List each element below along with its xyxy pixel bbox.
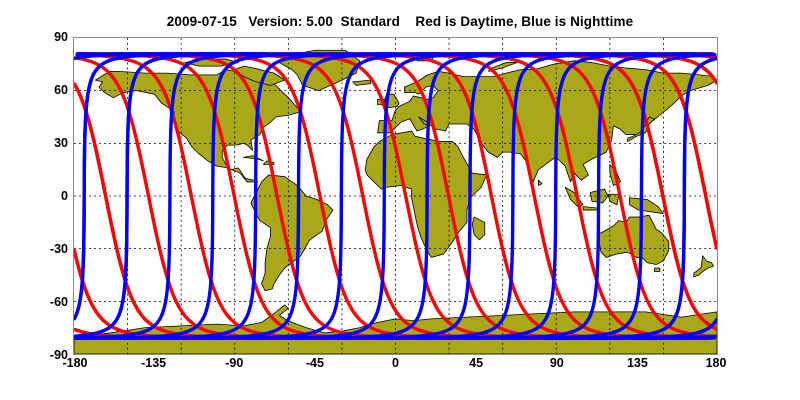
map-plot-area bbox=[73, 37, 718, 355]
x-tick-label: 180 bbox=[686, 357, 746, 370]
x-tick-label: -90 bbox=[204, 357, 264, 370]
plot-title: 2009-07-15 Version: 5.00 Standard Red is… bbox=[0, 14, 800, 29]
x-tick-label: 45 bbox=[446, 357, 506, 370]
landmass bbox=[654, 268, 659, 272]
y-tick-label: -30 bbox=[34, 243, 68, 256]
x-tick-label: 0 bbox=[366, 357, 426, 370]
y-tick-label: 0 bbox=[34, 190, 68, 203]
x-tick-label: -135 bbox=[124, 357, 184, 370]
ground-track-plot: 2009-07-15 Version: 5.00 Standard Red is… bbox=[0, 0, 800, 400]
x-axis: -180 -135 -90 -45 0 45 90 135 180 bbox=[73, 357, 718, 377]
map-canvas bbox=[74, 38, 717, 354]
y-tick-label: -60 bbox=[34, 296, 68, 309]
x-tick-label: -45 bbox=[285, 357, 345, 370]
y-axis: 90 60 30 0 -30 -60 -90 bbox=[28, 37, 68, 355]
y-tick-label: 60 bbox=[34, 84, 68, 97]
x-tick-label: 135 bbox=[607, 357, 667, 370]
map-svg bbox=[74, 38, 717, 354]
x-tick-label: -180 bbox=[45, 357, 105, 370]
y-tick-label: 30 bbox=[34, 137, 68, 150]
x-tick-label: 90 bbox=[527, 357, 587, 370]
y-tick-label: 90 bbox=[34, 31, 68, 44]
nighttime-track bbox=[631, 336, 715, 338]
